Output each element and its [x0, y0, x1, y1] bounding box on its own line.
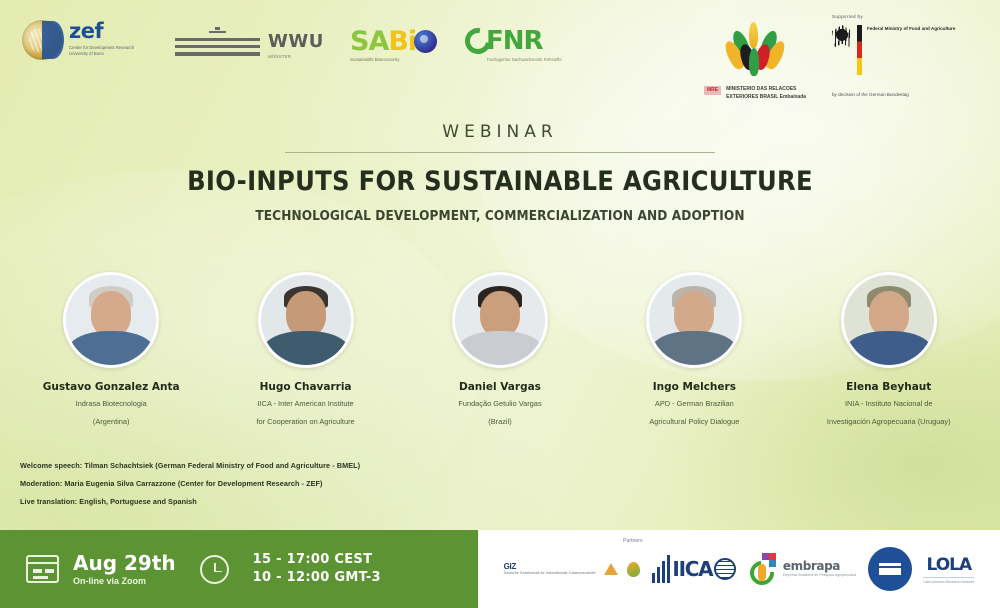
speaker-country: Agricultural Policy Dialogue — [601, 416, 787, 429]
avatar — [63, 272, 159, 368]
partner-logo-lola: LOLA Latin America Research Network — [923, 555, 974, 584]
ministry-abbr: MRE — [704, 86, 721, 95]
speaker-country: (Argentina) — [18, 416, 204, 429]
info-block: Welcome speech: Tilman Schachtsiek (Germ… — [20, 457, 640, 511]
webinar-poster: zef Center for Development Research Univ… — [0, 0, 1000, 608]
fnr-subtitle: Fachagentur Nachwachsende Rohstoffe — [487, 57, 562, 62]
speaker-country: Investigación Agropecuaria (Uruguay) — [796, 416, 982, 429]
speaker-card: Hugo Chavarria IICA - Inter American Ins… — [213, 272, 399, 429]
calendar-icon — [26, 555, 59, 583]
ministry-line-1: MINISTERIO DAS RELACOES — [726, 86, 806, 94]
partners-label: Partners — [623, 538, 643, 544]
avatar — [452, 272, 548, 368]
webinar-eyebrow: WEBINAR — [0, 122, 1000, 142]
logo-bmel: Supported by Federal Ministry of Food an… — [832, 14, 982, 98]
clock-icon — [200, 555, 229, 584]
fnr-wordmark: FNR — [486, 28, 543, 54]
iica-globe-icon — [714, 558, 736, 580]
giz-subtitle: Deutsche Gesellschaft für Internationale… — [504, 571, 596, 576]
speaker-org: INIA - Instituto Nacional de — [796, 398, 982, 411]
embrapa-mark-icon — [748, 553, 778, 585]
page-subtitle: TECHNOLOGICAL DEVELOPMENT, COMMERCIALIZA… — [0, 208, 1000, 224]
avatar — [841, 272, 937, 368]
info-line-translation: Live translation: English, Portuguese an… — [20, 493, 640, 511]
bottom-bar: Aug 29th On-line via Zoom 15 - 17:00 CES… — [0, 530, 1000, 608]
logo-sabio: SABi Sustainable Bioeconomy — [350, 28, 437, 62]
german-flag-icon — [857, 25, 862, 75]
title-block: WEBINAR BIO-INPUTS FOR SUSTAINABLE AGRIC… — [0, 122, 1000, 224]
iica-bars-icon — [652, 555, 670, 583]
bmel-header: Supported by — [832, 14, 982, 19]
speaker-name: Gustavo Gonzalez Anta — [18, 381, 204, 393]
bmel-footer: by decision of the German Bundestag — [832, 91, 982, 98]
speaker-card: Ingo Melchers APD - German Brazilian Agr… — [601, 272, 787, 429]
info-line-welcome: Welcome speech: Tilman Schachtsiek (Germ… — [20, 457, 640, 475]
speaker-card: Elena Beyhaut INIA - Instituto Nacional … — [796, 272, 982, 429]
partner-logo-embrapa: embrapa Empresa Brasileira de Pesquisa A… — [748, 553, 856, 585]
title-divider — [285, 152, 715, 153]
event-time-secondary: 10 - 12:00 GMT-3 — [253, 569, 381, 587]
speaker-org: Indrasa Biotecnologia — [18, 398, 204, 411]
giz-wordmark: GIZ — [504, 562, 596, 571]
wwu-subtitle: MÜNSTER — [268, 54, 324, 59]
speaker-name: Hugo Chavarria — [213, 381, 399, 393]
event-mode: On-line via Zoom — [73, 576, 176, 586]
lola-subtitle: Latin America Research Network — [923, 577, 974, 584]
speaker-country: (Brazil) — [407, 416, 593, 429]
speaker-name: Ingo Melchers — [601, 381, 787, 393]
sabio-circle-icon — [414, 30, 437, 53]
avatar — [258, 272, 354, 368]
wwu-lines-icon — [175, 26, 260, 66]
lola-wordmark: LOLA — [923, 555, 974, 575]
embrapa-subtitle: Empresa Brasileira de Pesquisa Agropecuá… — [783, 573, 856, 578]
speaker-name: Elena Beyhaut — [796, 381, 982, 393]
brazil-ministry-emblem-icon — [725, 22, 785, 84]
speaker-country: for Cooperation on Agriculture — [213, 416, 399, 429]
sabio-subtitle: Sustainable Bioeconomy — [350, 57, 437, 62]
logo-fnr: FNR Fachagentur Nachwachsende Rohstoffe — [465, 28, 562, 62]
event-time-primary: 15 - 17:00 CEST — [253, 551, 381, 569]
giz-triangle-icon — [604, 563, 618, 575]
iica-wordmark: IICA — [672, 557, 712, 581]
sabio-part-1: SA — [350, 26, 388, 57]
zef-wordmark: zef — [69, 21, 141, 42]
speaker-org: IICA - Inter American Institute — [213, 398, 399, 411]
logo-zef: zef Center for Development Research Univ… — [22, 20, 141, 60]
bmel-body: Federal Ministry of Food and Agriculture — [867, 25, 955, 33]
speaker-name: Daniel Vargas — [407, 381, 593, 393]
zef-subtitle: Center for Development Research Universi… — [69, 45, 141, 58]
partners-panel: Partners GIZ Deutsche Gesellschaft für I… — [478, 530, 1000, 608]
event-date: Aug 29th — [73, 552, 176, 574]
speaker-card: Daniel Vargas Fundação Getulio Vargas (B… — [407, 272, 593, 429]
info-line-moderation: Moderation: Maria Eugenia Silva Carrazzo… — [20, 475, 640, 493]
event-details-panel: Aug 29th On-line via Zoom 15 - 17:00 CES… — [0, 530, 478, 608]
speaker-org: Fundação Getulio Vargas — [407, 398, 593, 411]
ministry-line-2: EXTERIORES BRASIL Embaixada — [726, 94, 806, 102]
wwu-wordmark: WWU — [268, 33, 324, 51]
page-title: BIO-INPUTS FOR SUSTAINABLE AGRICULTURE — [0, 167, 1000, 197]
partner-logo-round-badge — [868, 547, 912, 591]
seed-drop-icon — [627, 562, 640, 577]
logo-wwu: WWU MÜNSTER — [175, 26, 324, 66]
german-federal-eagle-icon — [832, 25, 852, 47]
embrapa-wordmark: embrapa — [783, 559, 856, 573]
partner-logo-iica: IICA — [652, 555, 736, 583]
sabio-wordmark: SABi — [350, 28, 437, 55]
speakers-row: Gustavo Gonzalez Anta Indrasa Biotecnolo… — [0, 272, 1000, 429]
sabio-part-2: Bi — [388, 26, 416, 57]
speaker-card: Gustavo Gonzalez Anta Indrasa Biotecnolo… — [18, 272, 204, 429]
top-logo-bar: zef Center for Development Research Univ… — [0, 0, 1000, 120]
avatar — [646, 272, 742, 368]
zef-globe-icon — [22, 20, 62, 60]
partner-logo-giz: GIZ Deutsche Gesellschaft für Internatio… — [504, 562, 641, 577]
speaker-org: APD - German Brazilian — [601, 398, 787, 411]
